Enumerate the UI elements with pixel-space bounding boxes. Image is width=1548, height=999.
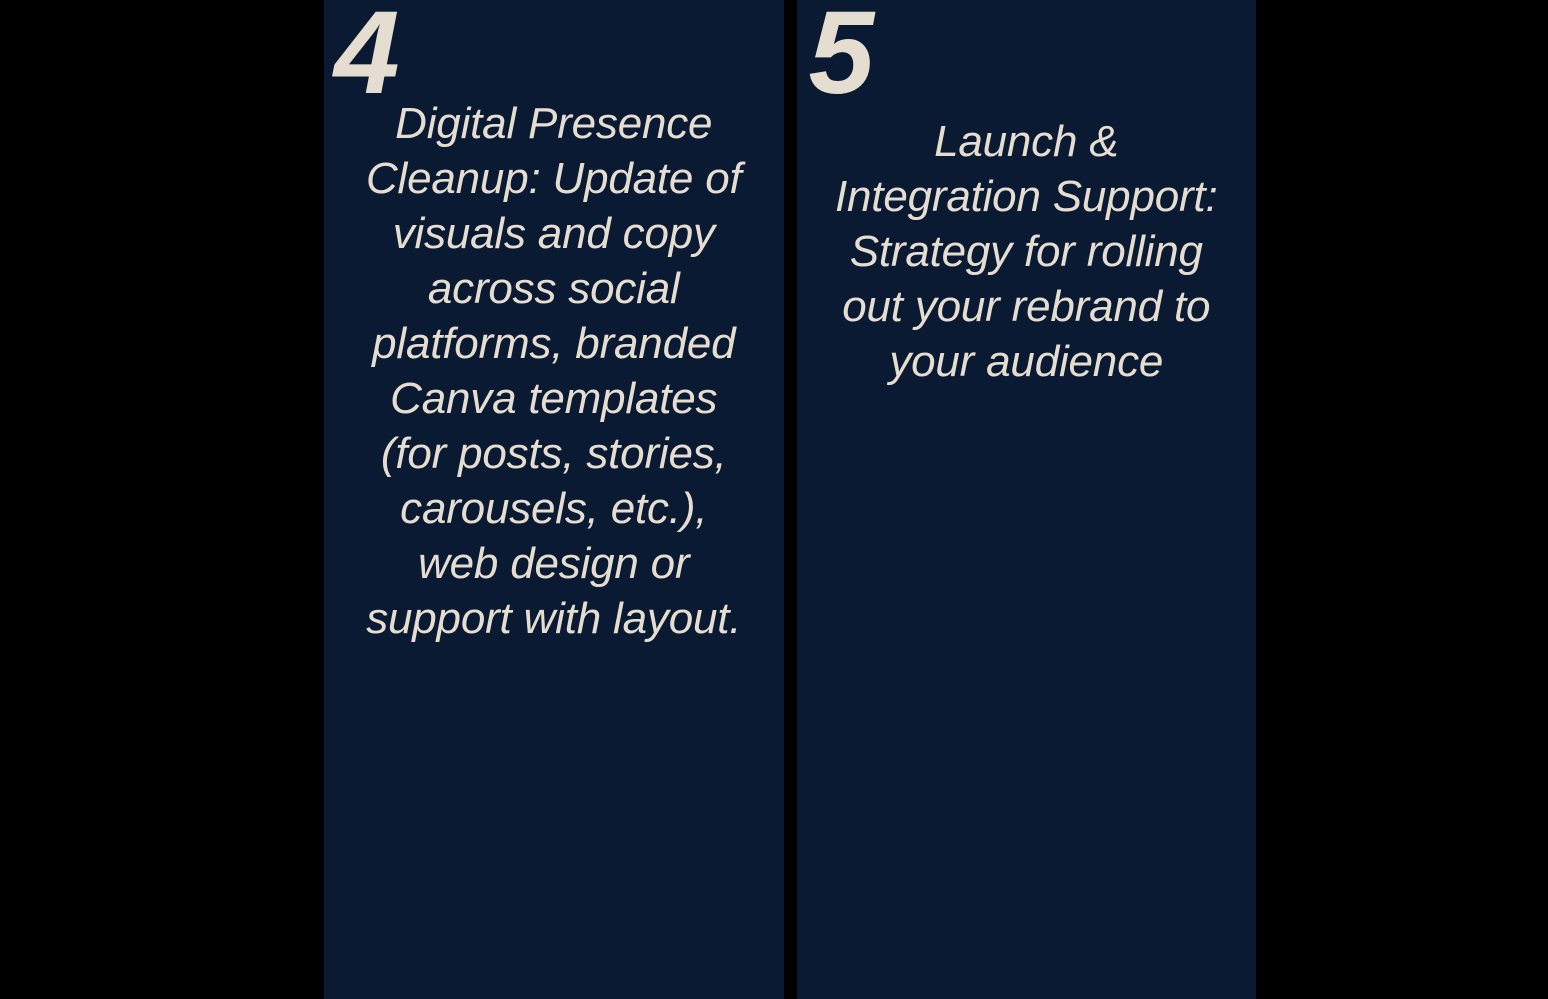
card-step-4-number: 4 <box>324 0 784 100</box>
card-step-4[interactable]: 4 Digital Presence Cleanup: Update of vi… <box>324 0 784 999</box>
slide-canvas: 4 Digital Presence Cleanup: Update of vi… <box>0 0 1548 999</box>
card-step-5[interactable]: 5 Launch & Integration Support: Strategy… <box>797 0 1257 999</box>
cards-row: 4 Digital Presence Cleanup: Update of vi… <box>324 0 1256 999</box>
card-step-5-number: 5 <box>797 0 1257 100</box>
card-step-5-description: Launch & Integration Support: Strategy f… <box>816 114 1236 389</box>
card-step-4-description: Digital Presence Cleanup: Update of visu… <box>344 96 764 646</box>
